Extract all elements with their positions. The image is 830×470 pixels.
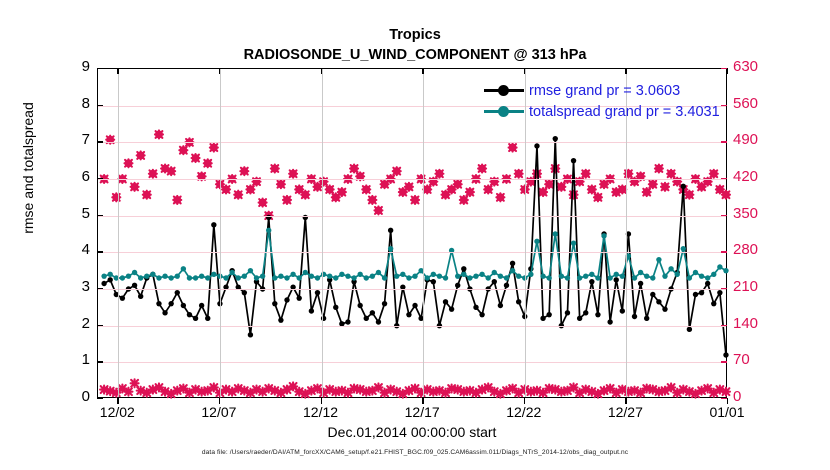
x-axis-tick-top [219,68,220,74]
obs-assimilated-marker [155,130,163,138]
x-axis-tick-label: 12/02 [82,404,152,420]
data-point-totalspread [620,273,625,278]
obs-assimilated-marker [478,165,486,173]
obs-assimilated-marker [210,144,218,152]
data-point-totalspread [583,273,588,278]
data-point-totalspread [681,246,686,251]
data-point-totalspread [614,272,619,277]
gridline-vertical [322,69,323,397]
y-axis-left-tick-label: 5 [60,207,90,221]
data-point-rmse [516,299,521,304]
obs-assimilated-marker [350,165,358,173]
data-point-totalspread [406,275,411,280]
line-path-totalspread [104,230,726,278]
obs-marker-series-assimilated [100,379,730,397]
obs-assimilated-marker [466,188,474,196]
data-point-rmse [492,279,497,284]
y-axis-right-tick-label: 210 [733,280,777,294]
data-point-totalspread [534,239,539,244]
y-axis-right-tick-label: 350 [733,207,777,221]
data-point-totalspread [211,272,216,277]
data-point-rmse [187,312,192,317]
obs-assimilated-marker [533,170,541,178]
data-point-rmse [595,312,600,317]
obs-assimilated-marker [283,196,291,204]
data-point-totalspread [168,275,173,280]
data-point-totalspread [711,272,716,277]
data-point-rmse [107,277,112,282]
data-point-rmse [687,327,692,332]
gridline-vertical [118,69,119,397]
data-point-totalspread [595,275,600,280]
data-point-totalspread [376,270,381,275]
chart-legend: rmse grand pr = 3.0603 totalspread grand… [484,80,720,122]
y-axis-left-tick-label: 4 [60,243,90,257]
obs-assimilated-marker [551,165,559,173]
obs-assimilated-marker [204,159,212,167]
x-axis-tick-label: 12/07 [184,404,254,420]
data-point-rmse [205,316,210,321]
data-point-totalspread [510,268,515,273]
y-axis-left-tick-label: 6 [60,170,90,184]
data-point-rmse [577,316,582,321]
data-point-rmse [101,281,106,286]
data-point-totalspread [473,273,478,278]
data-point-totalspread [290,272,295,277]
data-point-rmse [607,319,612,324]
obs-assimilated-marker [234,191,242,199]
data-point-rmse [272,301,277,306]
data-point-rmse [138,294,143,299]
data-point-totalspread [266,228,271,233]
data-point-totalspread [107,272,112,277]
obs-assimilated-marker [661,183,669,191]
data-point-totalspread [705,275,710,280]
data-point-totalspread [278,273,283,278]
chart-title-region: Tropics [0,26,830,45]
line-series-rmse [101,136,728,358]
data-point-totalspread [662,273,667,278]
data-point-rmse [461,266,466,271]
y-axis-left-tick-label: 2 [60,317,90,331]
data-point-rmse [510,261,515,266]
obs-assimilated-marker [539,188,547,196]
y-axis-right-tick [721,251,727,252]
obs-assimilated-marker [131,183,139,191]
obs-assimilated-marker [582,170,590,178]
gridline-horizontal [98,252,726,253]
data-point-rmse [650,292,655,297]
line-path-rmse [104,139,726,355]
data-point-totalspread [437,273,442,278]
data-point-totalspread [357,272,362,277]
y-axis-right-tick-label: 70 [733,353,777,367]
obs-assimilated-marker [277,180,285,188]
data-point-totalspread [687,275,692,280]
data-point-rmse [455,283,460,288]
data-point-totalspread [546,275,551,280]
data-point-rmse [614,277,619,282]
data-point-totalspread [559,273,564,278]
data-point-totalspread [254,275,259,280]
data-point-totalspread [351,275,356,280]
obs-assimilated-marker [649,180,657,188]
data-point-totalspread [339,272,344,277]
data-point-rmse [284,297,289,302]
y-axis-right-tick-label: 420 [733,170,777,184]
data-point-totalspread [589,272,594,277]
y-axis-left-tick [97,398,103,399]
data-point-rmse [333,305,338,310]
obs-assimilated-marker [362,185,370,193]
data-point-totalspread [260,273,265,278]
data-point-totalspread [120,275,125,280]
data-point-totalspread [601,233,606,238]
obs-assimilated-marker [722,388,730,396]
y-axis-left-title: rmse and totalspread [20,48,36,288]
legend-item-rmse: rmse grand pr = 3.0603 [484,80,720,101]
data-point-totalspread [303,270,308,275]
data-point-totalspread [674,272,679,277]
y-axis-right-tick-label: 280 [733,243,777,257]
obs-assimilated-marker [515,170,523,178]
y-axis-left-tick [97,105,103,106]
data-point-totalspread [236,275,241,280]
obs-assimilated-marker [496,193,504,201]
data-point-totalspread [150,272,155,277]
data-point-rmse [583,310,588,315]
data-point-totalspread [467,275,472,280]
data-point-totalspread [498,273,503,278]
data-point-rmse [693,292,698,297]
x-axis-tick-top [117,68,118,74]
x-axis-tick-top [422,68,423,74]
data-point-totalspread [431,272,436,277]
data-point-totalspread [461,272,466,277]
y-axis-left-tick [97,361,103,362]
data-point-totalspread [333,275,338,280]
gridline-horizontal [98,142,726,143]
chart-title-block: Tropics RADIOSONDE_U_WIND_COMPONENT @ 31… [0,26,830,65]
data-point-totalspread [144,273,149,278]
obs-assimilated-marker [570,191,578,199]
data-point-rmse [412,303,417,308]
data-point-totalspread [693,270,698,275]
data-point-rmse [534,143,539,148]
data-point-totalspread [577,275,582,280]
y-axis-left-tick-label: 7 [60,133,90,147]
data-point-totalspread [193,275,198,280]
data-point-rmse [565,310,570,315]
obs-assimilated-marker [192,154,200,162]
obs-assimilated-marker [167,167,175,175]
data-point-totalspread [132,270,137,275]
data-point-rmse [388,228,393,233]
data-point-rmse [431,279,436,284]
obs-assimilated-marker [246,185,254,193]
data-point-totalspread [296,275,301,280]
data-point-rmse [156,301,161,306]
obs-assimilated-marker [137,151,145,159]
data-point-totalspread [309,273,314,278]
obs-assimilated-marker [618,185,626,193]
data-point-totalspread [723,268,728,273]
data-point-rmse [632,314,637,319]
obs-assimilated-marker [222,185,230,193]
data-point-rmse [120,295,125,300]
data-point-totalspread [632,275,637,280]
x-axis-tick-top [625,68,626,74]
chart-title-variable: RADIOSONDE_U_WIND_COMPONENT @ 313 hPa [0,45,830,65]
data-point-rmse [662,306,667,311]
data-point-rmse [193,316,198,321]
obs-assimilated-marker [667,170,675,178]
y-axis-left-tick-label: 3 [60,280,90,294]
data-point-rmse [620,308,625,313]
y-axis-right-tick-label: 630 [733,60,777,74]
obs-assimilated-marker [259,199,267,207]
data-point-rmse [504,283,509,288]
data-point-totalspread [504,275,509,280]
data-point-rmse [181,303,186,308]
obs-assimilated-marker [435,170,443,178]
y-axis-left-tick-label: 8 [60,97,90,111]
data-point-rmse [211,222,216,227]
data-point-totalspread [272,275,277,280]
obs-assimilated-marker [271,165,279,173]
data-point-rmse [449,306,454,311]
data-point-totalspread [638,270,643,275]
data-point-rmse [199,303,204,308]
gridline-vertical [423,69,424,397]
obs-assimilated-marker [143,191,151,199]
obs-assimilated-marker [722,191,730,199]
y-axis-left-tick [97,68,103,69]
x-axis-tick-label: 01/01 [692,404,762,420]
data-point-totalspread [644,273,649,278]
data-point-totalspread [175,273,180,278]
obs-assimilated-marker [368,196,376,204]
data-point-rmse [162,310,167,315]
data-point-totalspread [516,273,521,278]
obs-marker-series-possible [100,130,730,219]
obs-assimilated-marker [643,188,651,196]
y-axis-left-tick [97,325,103,326]
obs-assimilated-marker [240,167,248,175]
data-point-rmse [443,299,448,304]
data-point-rmse [644,316,649,321]
x-axis-title: Dec.01,2014 00:00:00 start [97,424,727,440]
data-point-totalspread [315,275,320,280]
data-point-totalspread [229,270,234,275]
data-point-rmse [699,290,704,295]
y-axis-right-tick [721,105,727,106]
data-point-rmse [723,352,728,357]
line-series-totalspread [101,228,728,281]
data-point-totalspread [242,273,247,278]
obs-assimilated-marker [393,167,401,175]
obs-assimilated-marker [326,185,334,193]
data-point-rmse [315,290,320,295]
data-point-rmse [638,281,643,286]
obs-assimilated-marker [149,170,157,178]
data-point-totalspread [485,275,490,280]
y-axis-left-tick [97,215,103,216]
data-point-rmse [296,295,301,300]
y-axis-right-tick [721,178,727,179]
legend-item-totalspread: totalspread grand pr = 3.4031 [484,101,720,122]
data-point-totalspread [126,273,131,278]
x-axis-tick-top [727,68,728,74]
obs-assimilated-marker [454,180,462,188]
data-point-rmse [132,283,137,288]
obs-assimilated-marker [484,185,492,193]
data-point-totalspread [717,264,722,269]
chart-root: Tropics RADIOSONDE_U_WIND_COMPONENT @ 31… [0,0,830,470]
y-axis-right-tick [721,288,727,289]
data-point-rmse [242,290,247,295]
obs-assimilated-marker [301,191,309,199]
legend-label-totalspread: totalspread grand pr = 3.4031 [529,104,720,120]
x-axis-tick-top [524,68,525,74]
y-axis-left-tick-label: 0 [60,390,90,404]
data-point-rmse [376,319,381,324]
data-point-totalspread [607,275,612,280]
data-point-rmse [364,316,369,321]
y-axis-left-tick [97,251,103,252]
obs-assimilated-marker [411,196,419,204]
data-file-footer: data file: /Users/raeder/DAI/ATM_forcXX/… [0,449,830,456]
data-point-rmse [540,316,545,321]
obs-assimilated-marker [594,193,602,201]
data-point-rmse [705,281,710,286]
data-point-totalspread [656,257,661,262]
gridline-horizontal [98,179,726,180]
data-point-totalspread [492,270,497,275]
x-axis-tick-label: 12/17 [387,404,457,420]
obs-assimilated-marker [374,206,382,214]
gridline-horizontal [98,216,726,217]
data-point-totalspread [248,268,253,273]
y-axis-right-tick [721,325,727,326]
data-point-totalspread [650,275,655,280]
obs-assimilated-marker [405,183,413,191]
data-point-totalspread [565,275,570,280]
data-point-totalspread [370,273,375,278]
data-point-rmse [248,332,253,337]
data-point-totalspread [425,275,430,280]
data-point-totalspread [553,231,558,236]
data-point-rmse [498,303,503,308]
data-point-totalspread [571,240,576,245]
y-axis-left-tick-label: 1 [60,353,90,367]
data-point-totalspread [327,273,332,278]
data-point-rmse [370,310,375,315]
gridline-horizontal [98,326,726,327]
gridline-horizontal [98,289,726,290]
data-point-totalspread [138,275,143,280]
data-point-rmse [278,317,283,322]
legend-marker-rmse [498,85,509,96]
obs-assimilated-marker [655,165,663,173]
legend-marker-totalspread [498,106,509,117]
legend-label-rmse: rmse grand pr = 3.0603 [529,83,680,99]
obs-assimilated-marker [710,170,718,178]
gridline-horizontal [98,362,726,363]
y-axis-left-tick [97,178,103,179]
y-axis-left-tick [97,141,103,142]
y-axis-left-tick-label: 9 [60,60,90,74]
y-axis-right-tick-label: 140 [733,317,777,331]
data-point-rmse [473,305,478,310]
y-axis-right-tick [721,215,727,216]
obs-assimilated-marker [557,183,565,191]
data-point-rmse [546,312,551,317]
y-axis-right-tick-label: 0 [733,390,777,404]
data-point-totalspread [284,275,289,280]
data-point-totalspread [162,273,167,278]
data-point-totalspread [400,272,405,277]
data-point-rmse [681,184,686,189]
y-axis-right-tick [721,361,727,362]
y-axis-right-tick-label: 490 [733,133,777,147]
x-axis-tick-label: 12/12 [286,404,356,420]
data-point-totalspread [205,275,210,280]
data-point-rmse [382,301,387,306]
x-axis-tick-top [321,68,322,74]
x-axis-tick-label: 12/22 [489,404,559,420]
data-point-totalspread [223,275,228,280]
data-point-totalspread [699,273,704,278]
data-point-rmse [656,299,661,304]
y-axis-right-tick-label: 560 [733,97,777,111]
data-point-totalspread [187,275,192,280]
obs-assimilated-marker [509,144,517,152]
data-point-totalspread [443,275,448,280]
data-point-totalspread [394,273,399,278]
data-point-totalspread [528,272,533,277]
data-point-rmse [589,279,594,284]
data-point-rmse [406,312,411,317]
obs-assimilated-marker [588,185,596,193]
legend-line-rmse [484,89,524,92]
data-point-rmse [717,290,722,295]
data-point-rmse [168,301,173,306]
data-point-totalspread [181,266,186,271]
obs-assimilated-marker [545,180,553,188]
obs-assimilated-marker [685,191,693,199]
gridline-vertical [220,69,221,397]
data-point-totalspread [101,273,106,278]
data-point-totalspread [479,272,484,277]
x-axis-tick-label: 12/27 [590,404,660,420]
data-point-rmse [479,312,484,317]
obs-assimilated-marker [289,170,297,178]
data-point-totalspread [540,273,545,278]
data-point-rmse [309,308,314,313]
data-point-totalspread [455,273,460,278]
obs-assimilated-marker [460,196,468,204]
obs-assimilated-marker [124,388,132,396]
obs-assimilated-marker [131,379,139,387]
data-point-totalspread [364,275,369,280]
data-point-totalspread [382,275,387,280]
data-point-rmse [357,303,362,308]
y-axis-left-tick [97,288,103,289]
legend-line-totalspread [484,110,524,113]
data-point-rmse [571,158,576,163]
data-point-rmse [711,301,716,306]
